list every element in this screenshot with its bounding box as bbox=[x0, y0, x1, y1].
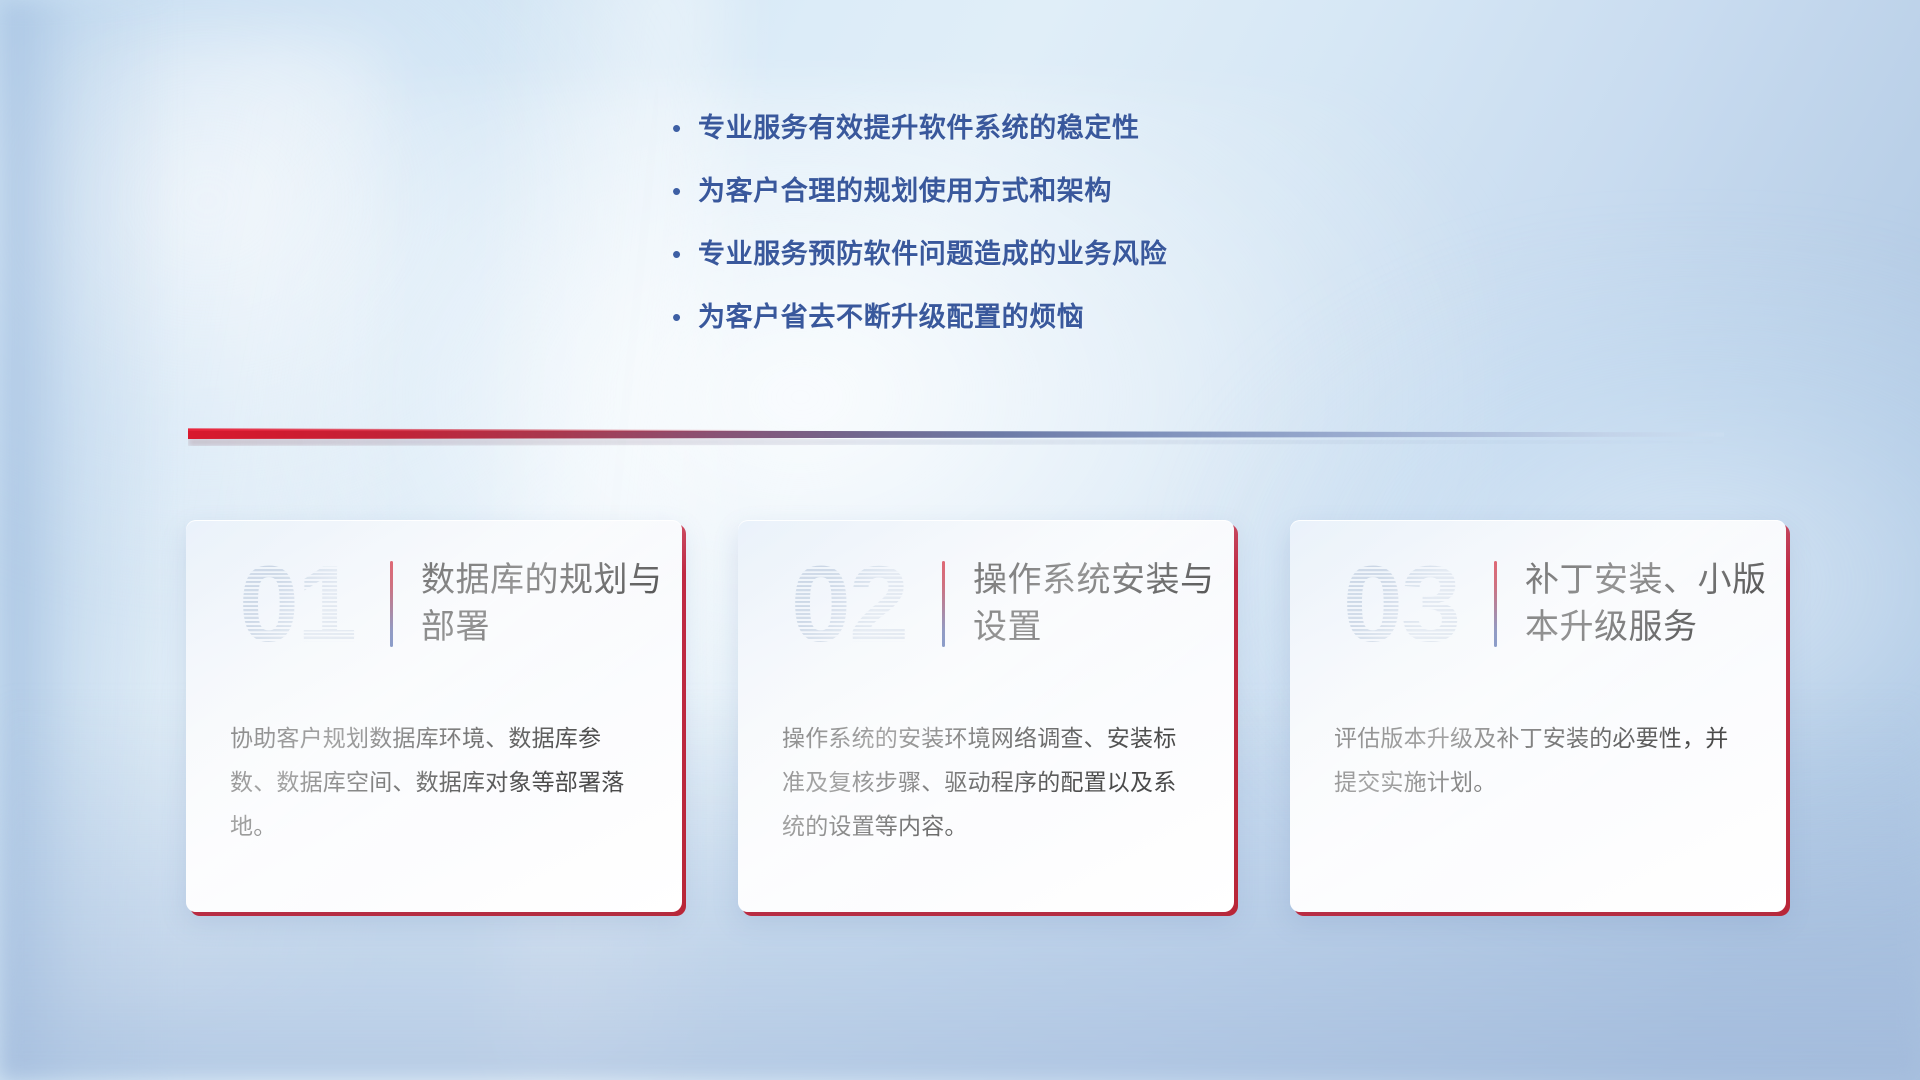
divider-gradient-bar bbox=[188, 430, 1724, 439]
card-header: 01 01 数据库的规划与部署 bbox=[186, 520, 682, 688]
benefits-bullet-list: • 专业服务有效提升软件系统的稳定性 • 为客户合理的规划使用方式和架构 • 专… bbox=[672, 108, 1432, 360]
card-title: 数据库的规划与部署 bbox=[421, 557, 682, 651]
card-title-divider-rule bbox=[942, 561, 945, 647]
bullet-item: • 为客户合理的规划使用方式和架构 bbox=[672, 171, 1432, 211]
section-divider bbox=[188, 426, 1724, 448]
service-card[interactable]: 03 03 补丁安装、小版本升级服务 评估版本升级及补丁安装的必要性，并提交实施… bbox=[1290, 520, 1786, 912]
bullet-dot-icon: • bbox=[672, 297, 698, 337]
service-card-list: 01 01 数据库的规划与部署 协助客户规划数据库环境、数据库参数、数据库空间、… bbox=[186, 520, 1786, 912]
card-body-text: 操作系统的安装环境网络调查、安装标准及复核步骤、驱动程序的配置以及系统的设置等内… bbox=[782, 716, 1194, 848]
bullet-dot-icon: • bbox=[672, 234, 698, 274]
card-surface: 02 02 操作系统安装与设置 操作系统的安装环境网络调查、安装标准及复核步骤、… bbox=[738, 520, 1234, 912]
bullet-item-label: 专业服务有效提升软件系统的稳定性 bbox=[698, 108, 1140, 148]
card-header: 03 03 补丁安装、小版本升级服务 bbox=[1290, 520, 1786, 688]
bullet-item-label: 专业服务预防软件问题造成的业务风险 bbox=[698, 234, 1167, 274]
bullet-item: • 为客户省去不断升级配置的烦恼 bbox=[672, 297, 1432, 337]
card-number-watermark: 02 bbox=[760, 541, 938, 667]
service-card[interactable]: 01 01 数据库的规划与部署 协助客户规划数据库环境、数据库参数、数据库空间、… bbox=[186, 520, 682, 912]
card-header: 02 02 操作系统安装与设置 bbox=[738, 520, 1234, 688]
bullet-dot-icon: • bbox=[672, 108, 698, 148]
card-body-text: 评估版本升级及补丁安装的必要性，并提交实施计划。 bbox=[1334, 716, 1746, 804]
bullet-dot-icon: • bbox=[672, 171, 698, 211]
card-body-text: 协助客户规划数据库环境、数据库参数、数据库空间、数据库对象等部署落地。 bbox=[230, 716, 642, 848]
divider-shadow bbox=[188, 438, 1724, 446]
service-card[interactable]: 02 02 操作系统安装与设置 操作系统的安装环境网络调查、安装标准及复核步骤、… bbox=[738, 520, 1234, 912]
card-number-watermark: 03 bbox=[1312, 541, 1490, 667]
card-surface: 03 03 补丁安装、小版本升级服务 评估版本升级及补丁安装的必要性，并提交实施… bbox=[1290, 520, 1786, 912]
bullet-item: • 专业服务有效提升软件系统的稳定性 bbox=[672, 108, 1432, 148]
card-number-watermark: 01 bbox=[208, 541, 386, 667]
card-title-divider-rule bbox=[1494, 561, 1497, 647]
card-title: 补丁安装、小版本升级服务 bbox=[1525, 557, 1786, 651]
card-surface: 01 01 数据库的规划与部署 协助客户规划数据库环境、数据库参数、数据库空间、… bbox=[186, 520, 682, 912]
card-title: 操作系统安装与设置 bbox=[973, 557, 1234, 651]
bullet-item-label: 为客户合理的规划使用方式和架构 bbox=[698, 171, 1112, 211]
bullet-item: • 专业服务预防软件问题造成的业务风险 bbox=[672, 234, 1432, 274]
bullet-item-label: 为客户省去不断升级配置的烦恼 bbox=[698, 297, 1084, 337]
card-title-divider-rule bbox=[390, 561, 393, 647]
